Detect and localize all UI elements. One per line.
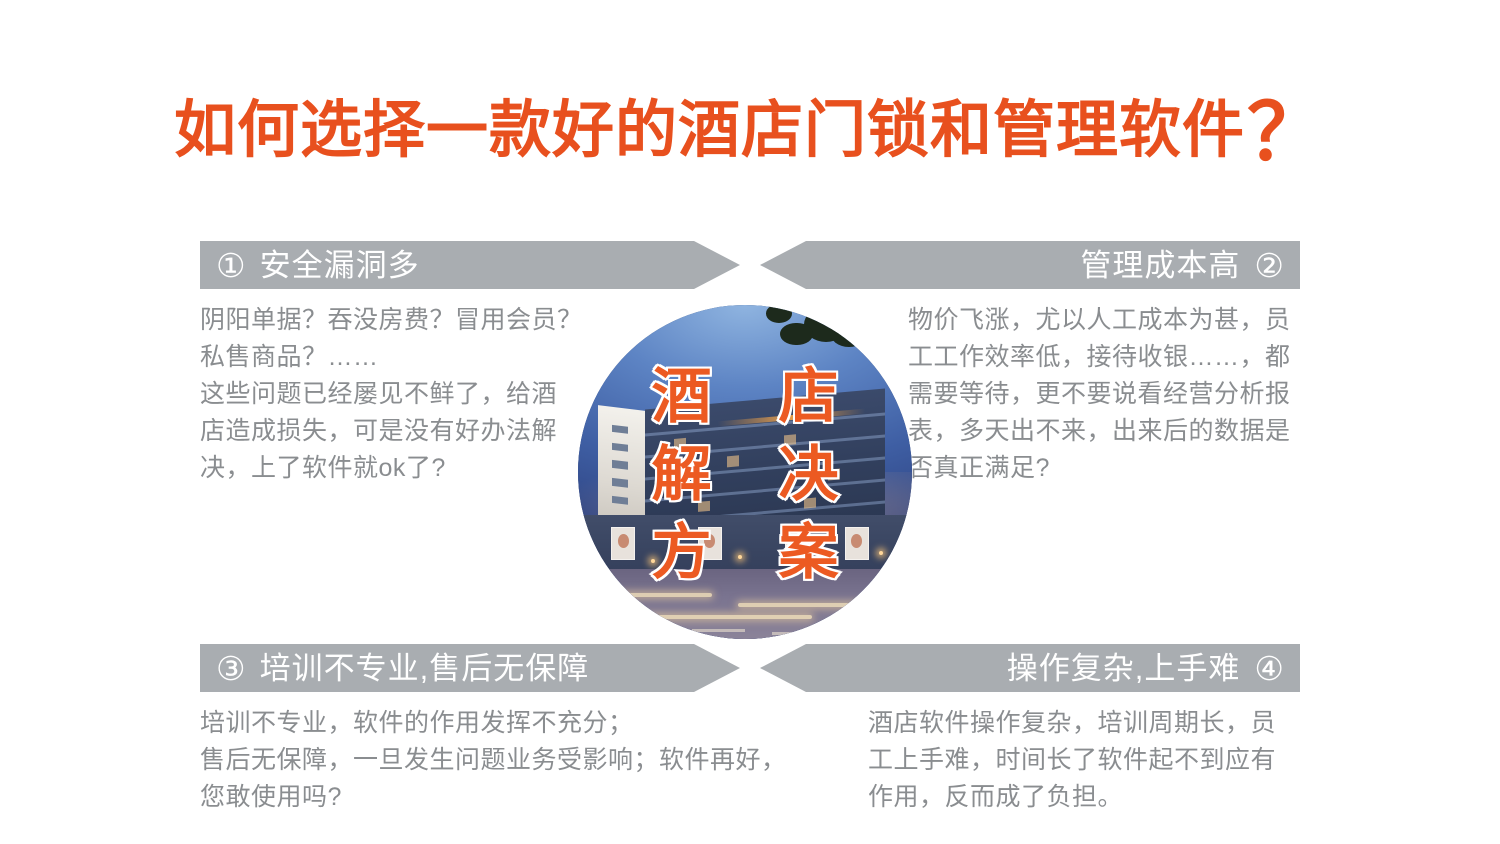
banner-item-4[interactable]: 操作复杂,上手难 ④ xyxy=(760,644,1300,692)
body-text-3: 培训不专业，软件的作用发挥不充分； 售后无保障，一旦发生问题业务受影响；软件再好… xyxy=(200,705,820,816)
banner-item-3[interactable]: ③ 培训不专业,售后无保障 xyxy=(200,644,740,692)
page-title: 如何选择一款好的酒店门锁和管理软件？ xyxy=(0,92,1500,174)
banner-label-2: 管理成本高 xyxy=(1080,250,1240,281)
banner-label-3: 培训不专业,售后无保障 xyxy=(260,653,590,684)
center-circle-image: 酒 店 解 决 方 案 xyxy=(578,305,912,639)
banner-number-4: ④ xyxy=(1254,652,1284,685)
page-title-question-mark: ？ xyxy=(1247,88,1326,176)
body-text-4: 酒店软件操作复杂，培训周期长，员 工上手难，时间长了软件起不到应有 作用，反而成… xyxy=(868,705,1300,816)
banner-number-1: ① xyxy=(216,249,246,282)
banner-item-2[interactable]: 管理成本高 ② xyxy=(760,241,1300,289)
banner-number-3: ③ xyxy=(216,652,246,685)
slide-canvas: 如何选择一款好的酒店门锁和管理软件？ ① 安全漏洞多 管理成本高 ② ③ 培训不… xyxy=(0,0,1500,844)
page-title-text: 如何选择一款好的酒店门锁和管理软件 xyxy=(174,96,1245,165)
banner-number-2: ② xyxy=(1254,249,1284,282)
street-foreground xyxy=(578,569,912,639)
body-text-2: 物价飞涨，尤以人工成本为甚，员 工工作效率低，接待收银……，都 需要等待，更不要… xyxy=(908,302,1300,487)
banner-item-1[interactable]: ① 安全漏洞多 xyxy=(200,241,740,289)
banner-label-4: 操作复杂,上手难 xyxy=(1007,653,1241,684)
tree-foliage-icon xyxy=(745,305,892,378)
banner-label-1: 安全漏洞多 xyxy=(260,250,420,281)
storefront-podium xyxy=(578,515,912,575)
body-text-1: 阴阳单据？吞没房费？冒用会员？ 私售商品？…… 这些问题已经屡见不鲜了，给酒 店… xyxy=(200,302,590,487)
